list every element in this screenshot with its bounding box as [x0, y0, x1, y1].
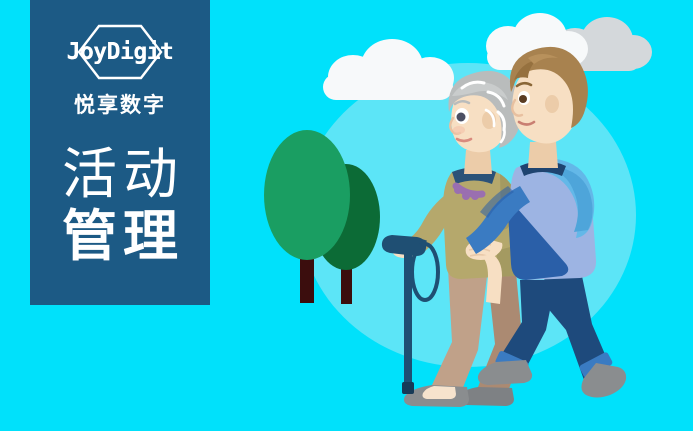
woman-pupil: [457, 113, 466, 122]
man-pupil: [519, 95, 527, 103]
page-title: 活动 管理: [56, 143, 184, 267]
logo-chinese-name: 悦享数字: [74, 89, 166, 119]
page-title-line-1: 活动: [56, 143, 184, 205]
man-neck: [528, 142, 558, 168]
cane-tip: [402, 382, 414, 394]
left-title-panel: JoyDigit 悦享数字 活动 管理: [30, 0, 210, 305]
logo-wordmark: JoyDigit: [67, 39, 174, 65]
brand-logo: JoyDigit: [45, 24, 195, 80]
woman-cheek: [453, 126, 465, 134]
activity-management-banner: JoyDigit 悦享数字 活动 管理: [0, 0, 693, 431]
man-ear: [545, 95, 559, 113]
woman-neck: [464, 150, 492, 174]
page-title-line-2: 管理: [56, 205, 184, 267]
cane-strap-link: [423, 240, 425, 246]
